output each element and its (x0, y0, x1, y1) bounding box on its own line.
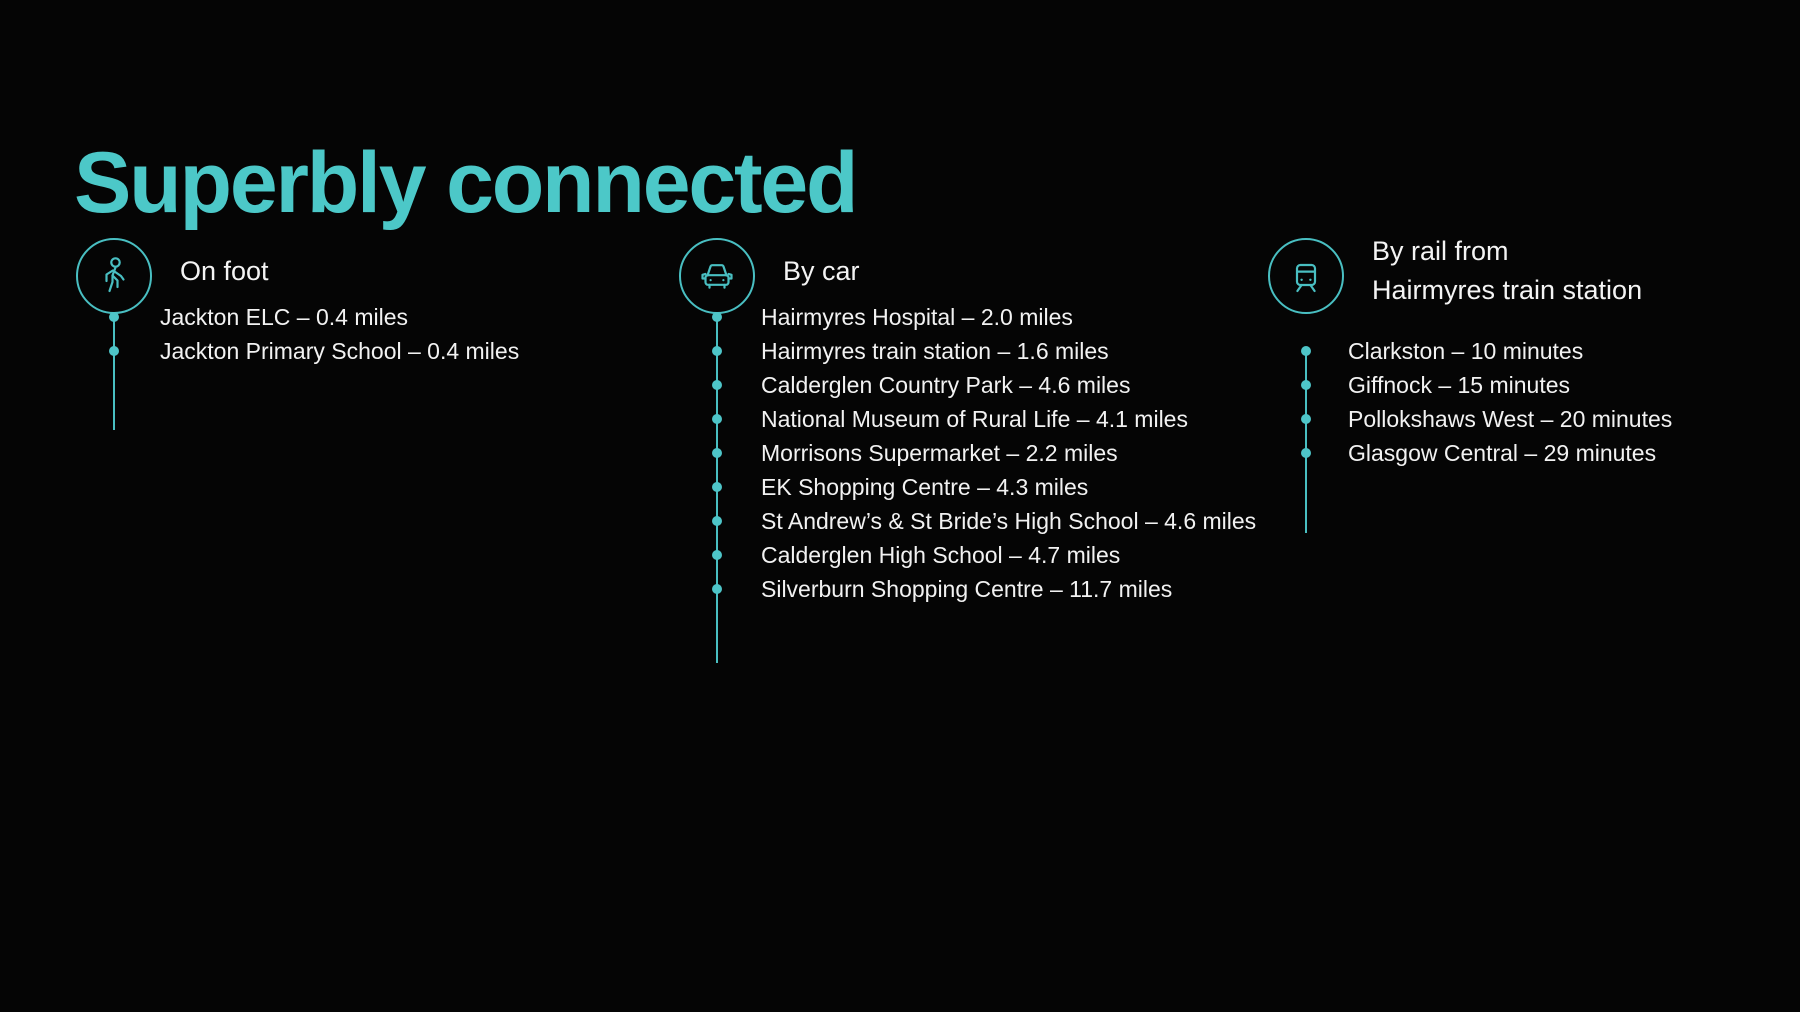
list-item: St Andrew’s & St Bride’s High School – 4… (679, 504, 1256, 538)
column-by-car: By car Hairmyres Hospital – 2.0 miles Ha… (679, 238, 1299, 342)
list-item-label: Morrisons Supermarket – 2.2 miles (761, 440, 1118, 466)
list-item: Glasgow Central – 29 minutes (1268, 436, 1672, 470)
list-item-label: Calderglen High School – 4.7 miles (761, 542, 1120, 568)
list-item-label: Pollokshaws West – 20 minutes (1348, 406, 1672, 432)
list-on-foot: Jackton ELC – 0.4 miles Jackton Primary … (76, 300, 519, 368)
bullet-dot-icon (109, 312, 119, 322)
list-item: Giffnock – 15 minutes (1268, 368, 1672, 402)
bullet-dot-icon (1301, 448, 1311, 458)
list-item: Calderglen Country Park – 4.6 miles (679, 368, 1256, 402)
heading-line-1: By car (783, 252, 860, 291)
bullet-dot-icon (712, 414, 722, 424)
list-item: Morrisons Supermarket – 2.2 miles (679, 436, 1256, 470)
heading-line-2: Hairmyres train station (1372, 271, 1642, 310)
column-heading-by-car: By car (783, 252, 860, 291)
bullet-dot-icon (712, 516, 722, 526)
list-item: EK Shopping Centre – 4.3 miles (679, 470, 1256, 504)
bullet-dot-icon (1301, 414, 1311, 424)
bullet-dot-icon (712, 380, 722, 390)
list-item: Silverburn Shopping Centre – 11.7 miles (679, 572, 1256, 606)
bullet-dot-icon (712, 312, 722, 322)
list-item-label: Silverburn Shopping Centre – 11.7 miles (761, 576, 1172, 602)
column-heading-by-rail: By rail from Hairmyres train station (1372, 232, 1642, 310)
list-by-car: Hairmyres Hospital – 2.0 miles Hairmyres… (679, 300, 1256, 606)
list-item-label: EK Shopping Centre – 4.3 miles (761, 474, 1088, 500)
list-item-label: Jackton ELC – 0.4 miles (160, 304, 408, 330)
list-item-label: St Andrew’s & St Bride’s High School – 4… (761, 508, 1256, 534)
bullet-dot-icon (1301, 346, 1311, 356)
list-item-label: Jackton Primary School – 0.4 miles (160, 338, 519, 364)
column-by-rail: By rail from Hairmyres train station Cla… (1268, 238, 1768, 342)
slide-root: Superbly connected On foot (0, 0, 1800, 1012)
list-item-label: Hairmyres train station – 1.6 miles (761, 338, 1109, 364)
bullet-dot-icon (712, 448, 722, 458)
page-title: Superbly connected (74, 140, 856, 226)
list-item-label: Glasgow Central – 29 minutes (1348, 440, 1656, 466)
list-item-label: National Museum of Rural Life – 4.1 mile… (761, 406, 1188, 432)
column-header-by-rail: By rail from Hairmyres train station (1268, 238, 1768, 342)
list-item: Clarkston – 10 minutes (1268, 334, 1672, 368)
list-item: Calderglen High School – 4.7 miles (679, 538, 1256, 572)
list-item: Jackton ELC – 0.4 miles (76, 300, 519, 334)
bullet-dot-icon (712, 584, 722, 594)
column-heading-on-foot: On foot (180, 252, 269, 291)
list-item: Hairmyres Hospital – 2.0 miles (679, 300, 1256, 334)
heading-line-1: By rail from (1372, 232, 1642, 271)
list-item: Hairmyres train station – 1.6 miles (679, 334, 1256, 368)
heading-line-1: On foot (180, 252, 269, 291)
list-by-rail: Clarkston – 10 minutes Giffnock – 15 min… (1268, 334, 1672, 470)
list-item-label: Calderglen Country Park – 4.6 miles (761, 372, 1130, 398)
bullet-dot-icon (712, 482, 722, 492)
bullet-dot-icon (1301, 380, 1311, 390)
train-front-icon (1268, 238, 1344, 314)
list-item-label: Hairmyres Hospital – 2.0 miles (761, 304, 1073, 330)
bullet-dot-icon (712, 346, 722, 356)
bullet-dot-icon (109, 346, 119, 356)
bullet-dot-icon (712, 550, 722, 560)
list-item-label: Giffnock – 15 minutes (1348, 372, 1570, 398)
list-item: Pollokshaws West – 20 minutes (1268, 402, 1672, 436)
list-item: Jackton Primary School – 0.4 miles (76, 334, 519, 368)
column-on-foot: On foot Jackton ELC – 0.4 miles Jackton … (76, 238, 636, 342)
list-item-label: Clarkston – 10 minutes (1348, 338, 1583, 364)
list-item: National Museum of Rural Life – 4.1 mile… (679, 402, 1256, 436)
